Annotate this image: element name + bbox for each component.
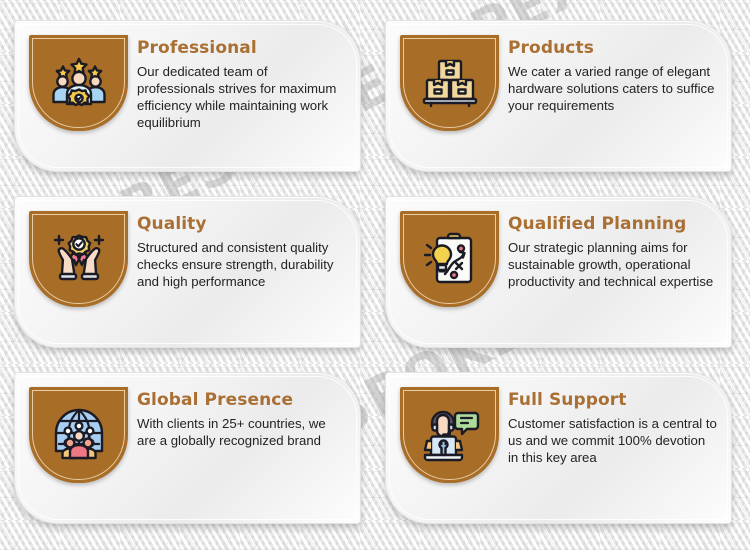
card-text-products: Products We cater a varied range of eleg… <box>508 39 719 114</box>
card-text-professional: Professional Our dedicated team of profe… <box>137 39 348 132</box>
badge-full-support <box>400 387 499 483</box>
feature-card-professional[interactable]: Professional Our dedicated team of profe… <box>14 20 361 172</box>
feature-card-products[interactable]: Products We cater a varied range of eleg… <box>385 20 732 172</box>
card-description: We cater a varied range of elegant hardw… <box>508 63 719 115</box>
card-title: Quality <box>137 215 348 234</box>
card-description: Our dedicated team of professionals stri… <box>137 63 348 132</box>
feature-card-qualified-planning[interactable]: Qualified Planning Our strategic plannin… <box>385 196 732 348</box>
card-title: Full Support <box>508 391 719 410</box>
card-text-global-presence: Global Presence With clients in 25+ coun… <box>137 391 348 449</box>
card-slot: Qualified Planning Our strategic plannin… <box>379 190 742 366</box>
card-slot: Global Presence With clients in 25+ coun… <box>8 366 371 542</box>
card-title: Products <box>508 39 719 58</box>
feature-card-full-support[interactable]: Full Support Customer satisfaction is a … <box>385 372 732 524</box>
badge-qualified-planning <box>400 211 499 307</box>
card-slot: Full Support Customer satisfaction is a … <box>379 366 742 542</box>
card-text-full-support: Full Support Customer satisfaction is a … <box>508 391 719 466</box>
card-slot: Quality Structured and consistent qualit… <box>8 190 371 366</box>
feature-card-global-presence[interactable]: Global Presence With clients in 25+ coun… <box>14 372 361 524</box>
badge-quality <box>29 211 128 307</box>
card-text-quality: Quality Structured and consistent qualit… <box>137 215 348 290</box>
card-title: Global Presence <box>137 391 348 410</box>
card-slot: Products We cater a varied range of eleg… <box>379 14 742 190</box>
card-description: Our strategic planning aims for sustaina… <box>508 239 719 291</box>
badge-products <box>400 35 499 131</box>
feature-cards-grid: Professional Our dedicated team of profe… <box>0 0 750 550</box>
card-description: Structured and consistent quality checks… <box>137 239 348 291</box>
feature-card-quality[interactable]: Quality Structured and consistent qualit… <box>14 196 361 348</box>
card-slot: Professional Our dedicated team of profe… <box>8 14 371 190</box>
card-title: Professional <box>137 39 348 58</box>
badge-professional <box>29 35 128 131</box>
card-text-qualified-planning: Qualified Planning Our strategic plannin… <box>508 215 719 290</box>
card-title: Qualified Planning <box>508 215 719 234</box>
card-description: Customer satisfaction is a central to us… <box>508 415 719 467</box>
badge-global-presence <box>29 387 128 483</box>
card-description: With clients in 25+ countries, we are a … <box>137 415 348 449</box>
